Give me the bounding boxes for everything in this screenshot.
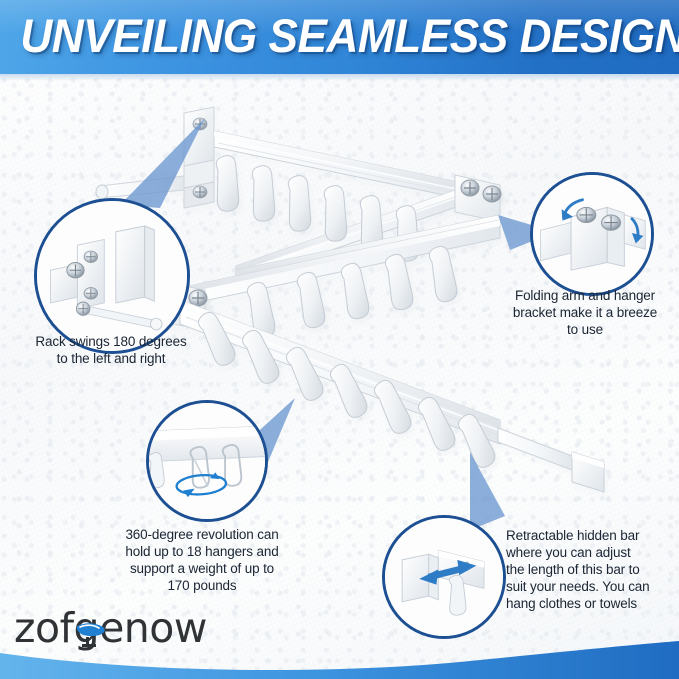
caption-line: Folding arm and hanger [492, 287, 678, 304]
caption-line: bracket make it a breeze [492, 304, 678, 321]
caption-line: suit your needs. You can [506, 578, 678, 595]
folding-arm-callout-bubble[interactable] [530, 172, 654, 296]
retractable-bar-caption: Retractable hidden bar where you can adj… [506, 527, 678, 612]
caption-line: to the left and right [0, 350, 222, 367]
caption-line: to use [492, 321, 678, 338]
page-title: UNVEILING SEAMLESS DESIGN [20, 6, 658, 66]
caption-line: Retractable hidden bar [506, 527, 678, 544]
caption-line: where you can adjust [506, 544, 678, 561]
retractable-bar-callout-bubble[interactable] [382, 515, 506, 639]
banner-drop-shadow [0, 74, 679, 81]
caption-line: support a weight of up to [86, 560, 318, 577]
rack-swings-caption: Rack swings 180 degrees to the left and … [0, 333, 222, 367]
brand-logo[interactable]: zofgenow [14, 604, 207, 652]
brand-name: zofgenow [14, 604, 207, 652]
caption-line: 170 pounds [86, 577, 318, 594]
infographic-canvas: UNVEILING SEAMLESS DESIGN [0, 0, 679, 679]
folding-arm-caption: Folding arm and hanger bracket make it a… [492, 287, 678, 338]
caption-line: the length of this bar to [506, 561, 678, 578]
rack-swings-callout-bubble[interactable] [34, 198, 190, 354]
steam-iron-icon [73, 616, 109, 650]
hanger-revolution-callout-bubble[interactable] [146, 400, 268, 522]
hinge-rotation-icon [533, 175, 651, 293]
caption-line: hold up to 18 hangers and [86, 543, 318, 560]
rotating-hook-icon [149, 403, 265, 519]
header-banner: UNVEILING SEAMLESS DESIGN [0, 0, 679, 74]
caption-line: hang clothes or towels [506, 595, 678, 612]
wall-bracket-icon [37, 201, 187, 351]
hanger-revolution-caption: 360-degree revolution can hold up to 18 … [86, 526, 318, 594]
extend-arrow-icon [385, 518, 503, 636]
caption-line: Rack swings 180 degrees [0, 333, 222, 350]
caption-line: 360-degree revolution can [86, 526, 318, 543]
